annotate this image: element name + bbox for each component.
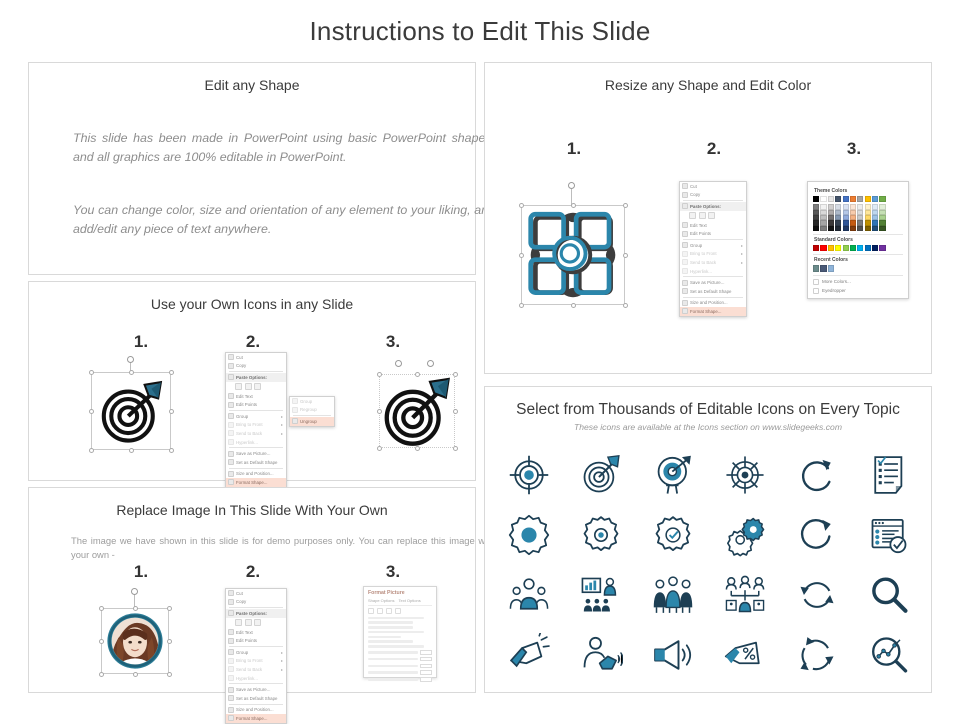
menu-item-icon [682,242,688,248]
menu-item-label: Edit Text [690,223,707,228]
field-input[interactable] [420,670,432,675]
resize-handle[interactable] [453,446,458,451]
megaphone-icon[interactable] [507,633,551,677]
dartboard-arrow-icon [381,376,453,448]
resize-handle[interactable] [623,203,628,208]
eyedropper-item[interactable]: Eyedropper [813,288,903,294]
resize-handle[interactable] [129,370,134,375]
color-swatch[interactable] [835,226,841,231]
paste-options-row[interactable] [226,382,286,392]
context-menu[interactable]: CutCopyPaste Options:Edit TextEdit Point… [679,181,747,317]
menu-item-icon [682,308,688,314]
menu-item-icon [292,398,298,404]
color-swatch[interactable] [828,226,834,231]
menu-item-label: Eyedropper [822,288,846,293]
effects-icon[interactable] [377,608,383,614]
panel-use-own-icons: Use your Own Icons in any Slide 1. 2. 3. [28,281,476,481]
resize-handle[interactable] [519,303,524,308]
color-swatch[interactable] [879,196,885,202]
context-menu-item[interactable]: Edit Points [226,400,286,409]
color-swatch[interactable] [872,245,878,251]
menu-item-label: Send to Back [236,431,262,436]
rotate-handle-icon[interactable] [127,356,134,363]
context-menu-item[interactable]: Cut [226,353,286,362]
menu-item-label: Set as Default Shape [236,696,278,701]
resize-handle[interactable] [89,448,94,453]
format-pane-tab[interactable]: Text Options [398,598,420,603]
format-pane-field-row[interactable] [368,670,432,675]
menu-item-icon [682,300,688,306]
menu-separator [229,468,283,469]
format-pane-option-row[interactable] [368,645,424,648]
menu-item-label: Save as Picture... [690,280,724,285]
menu-item-label: Cut [690,184,697,189]
format-pane-option-row[interactable] [368,636,401,639]
replace-image-step-3-number: 3. [373,562,413,582]
panel-edit-any-shape: Edit any Shape This slide has been made … [28,62,476,275]
menu-item-icon [228,479,234,485]
menu-item-label: Paste Options: [690,204,721,209]
resize-handle[interactable] [133,606,138,611]
panel-title-use-own-icons: Use your Own Icons in any Slide [29,296,475,312]
replace-image-step-1-artwork [89,588,181,680]
menu-item-icon [228,629,234,635]
chevron-right-icon: ▸ [741,243,743,248]
menu-item-label: Bring to Front [236,422,263,427]
context-menu-item[interactable]: Edit Text [680,221,746,230]
color-swatch[interactable] [879,226,885,231]
resize-handle[interactable] [571,303,576,308]
color-swatch[interactable] [843,245,849,251]
menu-item-icon [228,599,234,605]
menu-item-icon [228,439,234,445]
checklist-document-icon[interactable] [867,453,911,497]
menu-item-label: Format Shape... [236,716,267,721]
context-menu-item[interactable]: Set as Default Shape [226,694,286,703]
dartboard-arrow-icon[interactable] [579,453,623,497]
context-menu-item[interactable]: Format Shape... [680,307,746,316]
resize-handle[interactable] [99,639,104,644]
chevron-right-icon: ▸ [281,422,283,427]
color-swatch[interactable] [843,226,849,231]
magnifier-icon[interactable] [867,573,911,617]
field-label [368,665,418,668]
color-picker-dropdown[interactable]: Theme ColorsStandard ColorsRecent Colors… [807,181,909,299]
format-pane-option-row[interactable] [368,626,413,629]
menu-item-label: Edit Points [690,231,711,236]
color-swatch[interactable] [813,245,819,251]
menu-item-label: Copy [690,192,700,197]
menu-item-icon [228,451,234,457]
color-swatch[interactable] [843,196,849,202]
color-swatch[interactable] [820,265,826,271]
chevron-right-icon: ▸ [741,251,743,256]
gear-check-icon[interactable] [651,513,695,557]
panel-resize-shape: Resize any Shape and Edit Color 1. 2. 3. [484,62,932,374]
paste-option-icon[interactable] [254,383,261,390]
chevron-right-icon: ▸ [741,260,743,265]
format-pane-tabs: Shape OptionsText Options [368,598,432,606]
gear-dot-icon[interactable] [579,513,623,557]
menu-item-icon [228,363,234,369]
format-pane-title: Format Picture [368,590,432,596]
gears-pair-icon[interactable] [723,513,767,557]
menu-item-icon [228,422,234,428]
menu-item-icon [228,715,234,721]
context-menu-item: Hyperlink... [226,674,286,683]
resize-handle[interactable] [623,303,628,308]
menu-item-icon [228,471,234,477]
chevron-right-icon: ▸ [281,658,283,663]
context-menu-item: Bring to Front▸ [226,657,286,666]
context-menu-item[interactable]: Save as Picture... [226,449,286,458]
context-menu-item[interactable]: Copy [226,598,286,607]
color-swatch[interactable] [865,196,871,202]
color-swatch[interactable] [850,196,856,202]
paste-option-icon[interactable] [689,212,696,219]
standard-colors-row [813,245,903,251]
menu-item-label: Group [236,414,248,419]
resize-handle[interactable] [453,409,458,414]
color-swatch[interactable] [813,226,819,231]
menu-item-label: Hyperlink... [236,440,258,445]
format-pane-field-row[interactable] [368,657,432,662]
format-picture-pane[interactable]: Format PictureShape OptionsText Options [363,586,437,678]
format-pane-tab[interactable]: Shape Options [368,598,394,603]
field-label [368,658,418,661]
four-quadrant-cycle-icon [524,208,622,302]
field-label [368,651,418,654]
more-colors-item[interactable]: More Colors... [813,279,903,285]
fill-icon[interactable] [368,608,374,614]
color-swatch[interactable] [820,226,826,231]
own-icons-step-3-artwork [369,362,465,458]
person-megaphone-icon[interactable] [579,633,623,677]
menu-item-icon [228,638,234,644]
menu-item-label: Save as Picture... [236,687,270,692]
menu-item-label: Hyperlink... [236,676,258,681]
menu-item-label: Save as Picture... [236,451,270,456]
magnifier-chart-icon[interactable] [867,633,911,677]
team-group-icon[interactable] [507,573,551,617]
color-swatch[interactable] [850,245,856,251]
menu-item-label: Set as Default Shape [690,289,732,294]
panel-title-icon-library: Select from Thousands of Editable Icons … [485,401,931,419]
menu-separator [813,254,903,255]
context-menu-item: Bring to Front▸ [226,421,286,430]
menu-separator [229,646,283,647]
resize-handle[interactable] [453,372,458,377]
resize-handle[interactable] [167,672,172,677]
target-stand-icon[interactable] [651,453,695,497]
context-menu-item[interactable]: Edit Points [680,229,746,238]
gear-filled-icon[interactable] [507,513,551,557]
paste-option-icon[interactable] [235,383,242,390]
menu-item-label: Ungroup [300,419,317,424]
menu-item-label: Group [236,650,248,655]
context-menu-item: Send to Back▸ [226,665,286,674]
context-menu-item[interactable]: Size and Position... [226,470,286,479]
context-menu-item[interactable]: Set as Default Shape [226,458,286,467]
edit-shape-paragraph-1: This slide has been made in PowerPoint u… [73,129,495,167]
color-swatch[interactable] [820,196,826,202]
context-menu-item[interactable]: Cut [680,182,746,191]
context-menu-item[interactable]: Paste Options: [226,373,286,382]
color-swatch[interactable] [835,245,841,251]
replace-image-paragraph: The image we have shown in this slide is… [71,534,495,561]
crosshair-dot-icon[interactable] [723,453,767,497]
menu-item-icon [682,288,688,294]
context-menu[interactable]: CutCopyPaste Options:Edit TextEdit Point… [225,352,287,488]
paste-options-row[interactable] [680,211,746,221]
menu-separator [813,275,903,276]
menu-item-icon [228,649,234,655]
menu-item-label: Copy [236,599,246,604]
menu-item-label: Edit Points [236,402,257,407]
recent-colors-label: Recent Colors [814,257,903,263]
context-menu-item: Bring to Front▸ [680,250,746,259]
layout-icon[interactable] [386,608,392,614]
resize-handle[interactable] [133,672,138,677]
menu-item-icon [228,695,234,701]
resize-handle[interactable] [89,409,94,414]
context-menu-item: Group [290,397,334,406]
panel-title-replace-image: Replace Image In This Slide With Your Ow… [29,502,475,518]
paste-option-icon[interactable] [235,619,242,626]
team-network-icon[interactable] [723,573,767,617]
menu-item-label: Send to Back [690,260,716,265]
menu-item-icon [682,231,688,237]
field-input[interactable] [420,664,432,669]
menu-item-label: Edit Text [236,394,253,399]
resize-handle[interactable] [99,606,104,611]
menu-item-label: Cut [236,355,243,360]
own-icons-step-3-number: 3. [373,332,413,352]
menu-item-icon [682,259,688,265]
palette-icon [813,279,819,285]
resize-handle[interactable] [519,203,524,208]
context-menu[interactable]: CutCopyPaste Options:Edit TextEdit Point… [225,588,287,724]
resize-step-2-number: 2. [694,139,734,159]
resize-handle[interactable] [623,253,628,258]
cycle-three-arrows-icon[interactable] [795,633,839,677]
slide-canvas: Instructions to Edit This Slide Edit any… [0,0,960,720]
format-pane-field-row[interactable] [368,664,432,669]
menu-separator [683,276,743,277]
field-input[interactable] [420,657,432,662]
menu-item-label: Set as Default Shape [236,460,278,465]
menu-item-icon [682,192,688,198]
menu-item-icon [682,251,688,257]
menu-separator [293,415,331,416]
panel-title-resize-shape: Resize any Shape and Edit Color [485,77,931,93]
color-swatch[interactable] [872,226,878,231]
menu-item-icon [682,268,688,274]
resize-step-1-artwork [506,175,638,311]
menu-item-icon [228,393,234,399]
paste-options-row[interactable] [226,618,286,628]
menu-item-icon [682,183,688,189]
context-menu-item[interactable]: Format Shape... [226,714,286,723]
context-menu-item[interactable]: Edit Points [226,636,286,645]
context-menu-item[interactable]: Size and Position... [226,706,286,715]
format-pane-field-row[interactable] [368,677,432,682]
menu-separator [229,607,283,608]
menu-item-label: Cut [236,591,243,596]
panel-replace-image: Replace Image In This Slide With Your Ow… [28,487,476,693]
rotate-handle-icon[interactable] [427,360,434,367]
replace-image-step-2-number: 2. [233,562,273,582]
context-menu-item[interactable]: Edit Text [226,628,286,637]
team-row-icon[interactable] [651,573,695,617]
menu-item-icon [228,707,234,713]
target-crosshair-filled-icon[interactable] [507,453,551,497]
edit-shape-paragraph-2: You can change color, size and orientati… [73,201,495,239]
recent-colors-row [813,265,903,271]
presentation-audience-icon[interactable] [579,573,623,617]
color-swatch[interactable] [820,245,826,251]
menu-separator [229,447,283,448]
resize-handle[interactable] [169,409,174,414]
context-menu-item[interactable]: Size and Position... [680,299,746,308]
standard-colors-label: Standard Colors [814,237,903,243]
context-menu-item[interactable]: Copy [680,191,746,200]
checklist-approved-icon[interactable] [867,513,911,557]
resize-handle[interactable] [89,370,94,375]
format-pane-option-row[interactable] [368,617,424,620]
portrait-photo [104,611,166,671]
resize-handle[interactable] [167,639,172,644]
refresh-circle-icon[interactable] [795,513,839,557]
menu-item-label: Edit Text [236,630,253,635]
context-menu-item: Send to Back▸ [680,258,746,267]
context-menu-item[interactable]: Save as Picture... [226,685,286,694]
color-swatch[interactable] [857,226,863,231]
menu-item-icon [682,203,688,209]
resize-handle[interactable] [169,448,174,453]
color-swatch[interactable] [835,196,841,202]
color-swatch[interactable] [857,196,863,202]
context-menu-item[interactable]: Paste Options: [680,202,746,211]
resize-handle[interactable] [519,253,524,258]
rotate-handle-icon[interactable] [568,182,575,189]
menu-separator [683,239,743,240]
loudspeaker-icon[interactable] [651,633,695,677]
theme-colors-base-row [813,196,903,202]
context-menu-item[interactable]: Group▸ [680,241,746,250]
color-swatch[interactable] [872,196,878,202]
menu-item-icon [682,280,688,286]
resize-handle[interactable] [169,370,174,375]
menu-item-label: Format Shape... [236,480,267,485]
color-swatch[interactable] [813,265,819,271]
dartboard-arrow-icon [97,378,165,446]
field-input[interactable] [420,650,432,655]
chevron-right-icon: ▸ [281,431,283,436]
menu-item-icon [228,666,234,672]
menu-item-label: Size and Position... [236,471,274,476]
menu-item-label: Size and Position... [236,707,274,712]
menu-item-icon [228,675,234,681]
menu-item-icon [682,222,688,228]
color-swatch[interactable] [850,226,856,231]
context-menu-item[interactable]: Edit Text [226,392,286,401]
format-pane-option-row[interactable] [368,631,424,634]
context-menu-item[interactable]: Save as Picture... [680,278,746,287]
page-title: Instructions to Edit This Slide [0,16,960,47]
field-label [368,678,418,681]
field-label [368,671,418,674]
refresh-clockwise-icon[interactable] [795,453,839,497]
eyedropper-icon [813,288,819,294]
menu-separator [683,200,743,201]
resize-handle[interactable] [571,203,576,208]
menu-item-icon [292,418,298,424]
menu-item-icon [228,658,234,664]
own-icons-step-1-artwork [83,362,179,458]
format-pane-field-row[interactable] [368,650,432,655]
menu-item-icon [228,402,234,408]
replace-image-step-1-number: 1. [121,562,161,582]
context-menu-item[interactable]: Paste Options: [226,609,286,618]
context-menu-item[interactable]: Format Shape... [226,478,286,487]
paste-option-icon[interactable] [254,619,261,626]
context-menu-item[interactable]: Ungroup [290,417,334,426]
format-pane-option-row[interactable] [368,640,413,643]
color-swatch[interactable] [879,245,885,251]
menu-item-icon [228,687,234,693]
rotate-handle-icon[interactable] [131,588,138,595]
cycle-two-arrows-icon[interactable] [795,573,839,617]
context-menu-item[interactable]: Set as Default Shape [680,287,746,296]
color-swatch[interactable] [857,245,863,251]
paste-option-icon[interactable] [699,212,706,219]
format-pane-option-row[interactable] [368,621,413,624]
context-menu-item: Send to Back▸ [226,429,286,438]
color-swatch[interactable] [828,265,834,271]
context-menu-item[interactable]: Copy [226,362,286,371]
menu-separator [813,234,903,235]
context-menu-item[interactable]: Group▸ [226,648,286,657]
resize-handle[interactable] [99,672,104,677]
context-menu-item: Regroup [290,406,334,415]
menu-item-label: Paste Options: [236,375,267,380]
megaphone-percent-icon[interactable] [723,633,767,677]
color-swatch[interactable] [828,245,834,251]
color-swatch[interactable] [865,245,871,251]
context-menu-item[interactable]: Cut [226,589,286,598]
paste-option-icon[interactable] [245,383,252,390]
menu-item-label: Bring to Front [690,251,717,256]
color-swatch[interactable] [865,226,871,231]
picture-icon[interactable] [395,608,401,614]
color-swatch[interactable] [828,196,834,202]
resize-handle[interactable] [167,606,172,611]
resize-handle[interactable] [129,448,134,453]
paste-option-icon[interactable] [245,619,252,626]
color-swatch[interactable] [813,196,819,202]
menu-separator [229,704,283,705]
paste-option-icon[interactable] [708,212,715,219]
rotate-handle-icon[interactable] [395,360,402,367]
menu-item-label: Copy [236,363,246,368]
context-menu-item[interactable]: Group▸ [226,412,286,421]
chevron-right-icon: ▸ [281,667,283,672]
menu-item-icon [228,590,234,596]
own-icons-step-2-number: 2. [233,332,273,352]
context-submenu-group[interactable]: GroupRegroupUngroup [289,396,335,427]
field-input[interactable] [420,677,432,682]
